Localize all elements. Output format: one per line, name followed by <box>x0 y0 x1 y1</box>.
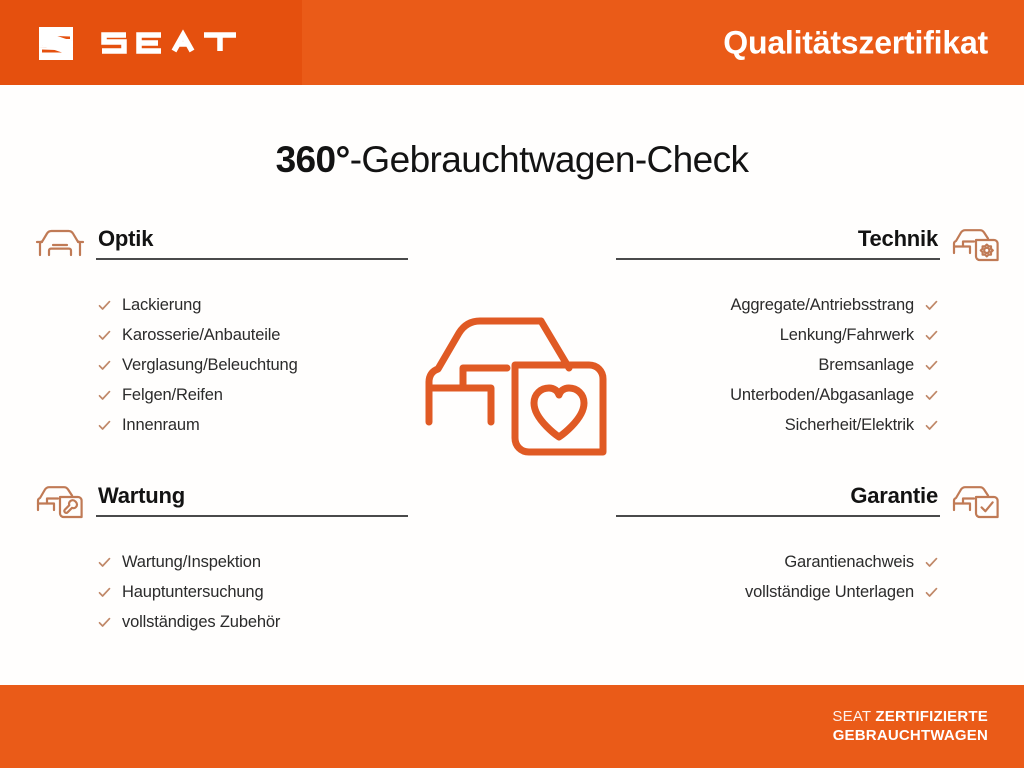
footer-claim-line1: SEAT ZERTIFIZIERTE <box>832 707 988 726</box>
section-garantie-title: Garantie <box>850 481 938 511</box>
page-title-degree: 360° <box>276 139 350 180</box>
check-icon <box>98 586 111 599</box>
page-footer: SEAT ZERTIFIZIERTE GEBRAUCHTWAGEN <box>0 685 1024 768</box>
check-icon <box>98 389 111 402</box>
list-item-label: Garantienachweis <box>784 547 914 577</box>
list-item: Lenkung/Fahrwerk <box>616 320 1002 350</box>
section-wartung-title: Wartung <box>98 481 185 511</box>
list-item: Bremsanlage <box>616 350 1002 380</box>
list-item-label: Hauptuntersuchung <box>122 577 263 607</box>
list-item-label: Lenkung/Fahrwerk <box>780 320 914 350</box>
check-icon <box>98 299 111 312</box>
list-item: Felgen/Reifen <box>34 380 408 410</box>
list-item: Wartung/Inspektion <box>34 547 408 577</box>
footer-claim: SEAT ZERTIFIZIERTE GEBRAUCHTWAGEN <box>832 707 988 745</box>
page-title-rest: -Gebrauchtwagen-Check <box>350 139 749 180</box>
check-icon <box>98 556 111 569</box>
list-item: Aggregate/Antriebsstrang <box>616 290 1002 320</box>
check-icon <box>925 586 938 599</box>
section-wartung: Wartung Wartung/Inspektion Hauptuntersuc… <box>34 481 408 637</box>
list-item: Karosserie/Anbauteile <box>34 320 408 350</box>
page-title: 360°-Gebrauchtwagen-Check <box>0 139 1024 181</box>
check-icon <box>98 329 111 342</box>
check-icon <box>98 419 111 432</box>
section-garantie-divider <box>616 515 940 517</box>
list-item-label: Unterboden/Abgasanlage <box>730 380 914 410</box>
car-wrench-icon <box>34 481 86 523</box>
list-item: vollständige Unterlagen <box>616 577 1002 607</box>
check-icon <box>925 299 938 312</box>
section-optik-divider <box>96 258 408 260</box>
car-gear-icon <box>950 224 1002 266</box>
footer-claim-brand: SEAT <box>832 708 871 725</box>
seat-s-logo-icon <box>34 21 78 65</box>
section-optik-list: Lackierung Karosserie/Anbauteile Verglas… <box>34 290 408 440</box>
list-item: Lackierung <box>34 290 408 320</box>
list-item: vollständiges Zubehör <box>34 607 408 637</box>
section-optik-header: Optik <box>34 224 408 268</box>
list-item-label: Bremsanlage <box>818 350 914 380</box>
car-check-icon <box>950 481 1002 523</box>
seat-logo <box>34 21 245 65</box>
section-optik: Optik Lackierung Karosserie/Anbauteile <box>34 224 408 440</box>
list-item-label: Innenraum <box>122 410 200 440</box>
section-technik-list: Aggregate/Antriebsstrang Lenkung/Fahrwer… <box>616 290 1002 440</box>
list-item-label: vollständiges Zubehör <box>122 607 280 637</box>
check-icon <box>925 389 938 402</box>
list-item-label: Verglasung/Beleuchtung <box>122 350 298 380</box>
list-item-label: Lackierung <box>122 290 201 320</box>
list-item: Sicherheit/Elektrik <box>616 410 1002 440</box>
section-garantie-list: Garantienachweis vollständige Unterlagen <box>616 547 1002 607</box>
list-item-label: vollständige Unterlagen <box>745 577 914 607</box>
list-item: Garantienachweis <box>616 547 1002 577</box>
section-garantie: Garantie Garantienac <box>616 481 1002 607</box>
page-header: Qualitätszertifikat <box>0 0 1024 85</box>
check-icon <box>98 359 111 372</box>
list-item: Verglasung/Beleuchtung <box>34 350 408 380</box>
section-technik-header: Technik <box>616 224 1002 268</box>
list-item-label: Sicherheit/Elektrik <box>785 410 914 440</box>
section-wartung-header: Wartung <box>34 481 408 525</box>
section-technik: Technik <box>616 224 1002 440</box>
section-technik-divider <box>616 258 940 260</box>
section-garantie-header: Garantie <box>616 481 1002 525</box>
list-item-label: Karosserie/Anbauteile <box>122 320 280 350</box>
check-icon <box>925 556 938 569</box>
check-icon <box>98 616 111 629</box>
footer-claim-line2: GEBRAUCHTWAGEN <box>832 726 988 745</box>
list-item: Unterboden/Abgasanlage <box>616 380 1002 410</box>
footer-claim-certified: ZERTIFIZIERTE <box>875 708 988 725</box>
list-item: Hauptuntersuchung <box>34 577 408 607</box>
section-optik-title: Optik <box>98 224 153 254</box>
section-technik-title: Technik <box>858 224 938 254</box>
list-item: Innenraum <box>34 410 408 440</box>
section-wartung-divider <box>96 515 408 517</box>
car-front-icon <box>34 224 86 266</box>
section-wartung-list: Wartung/Inspektion Hauptuntersuchung vol… <box>34 547 408 637</box>
check-icon <box>925 329 938 342</box>
check-icon <box>925 419 938 432</box>
certificate-page: Qualitätszertifikat 360°-Gebrauchtwagen-… <box>0 0 1024 768</box>
check-icon <box>925 359 938 372</box>
list-item-label: Wartung/Inspektion <box>122 547 261 577</box>
list-item-label: Felgen/Reifen <box>122 380 223 410</box>
seat-wordmark <box>95 28 245 58</box>
list-item-label: Aggregate/Antriebsstrang <box>730 290 914 320</box>
header-title: Qualitätszertifikat <box>723 24 988 61</box>
car-heart-badge-icon <box>419 300 613 478</box>
